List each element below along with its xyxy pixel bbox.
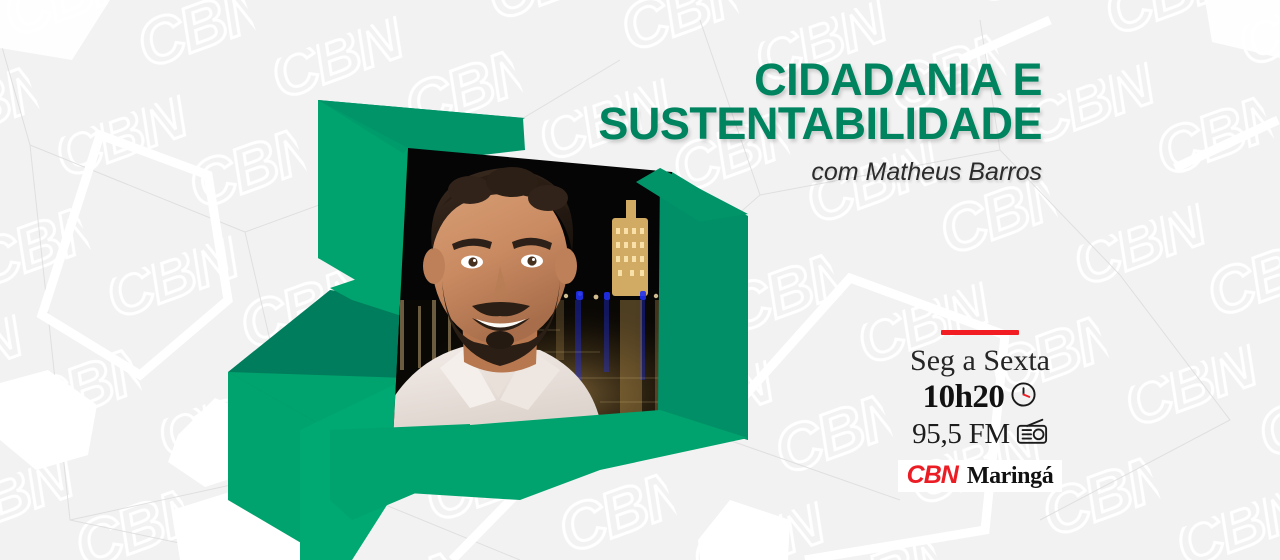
cbn-maringa-logo: CBN Maringá [898, 460, 1063, 492]
radio-icon [1016, 418, 1048, 450]
broadcast-time: 10h20 [923, 379, 1005, 416]
cbn-wordmark: CBN [907, 463, 958, 488]
show-host-subtitle: com Matheus Barros [422, 158, 1042, 187]
broadcast-frequency-row: 95,5 FM [880, 418, 1080, 451]
broadcast-time-row: 10h20 [880, 379, 1080, 416]
broadcast-frequency: 95,5 FM [912, 418, 1010, 451]
title-line-1: CIDADANIA E [422, 58, 1042, 102]
cbn-city-name: Maringá [967, 464, 1054, 488]
broadcast-schedule-block: Seg a Sexta 10h20 95,5 FM [880, 330, 1080, 492]
red-divider-rule [941, 330, 1019, 335]
show-title-block: CIDADANIA E SUSTENTABILIDADE com Matheus… [422, 58, 1042, 187]
broadcast-days: Seg a Sexta [880, 345, 1080, 377]
title-line-2: SUSTENTABILIDADE [422, 102, 1042, 146]
clock-icon [1010, 381, 1037, 413]
radio-show-banner: CBN CBN [0, 0, 1280, 560]
